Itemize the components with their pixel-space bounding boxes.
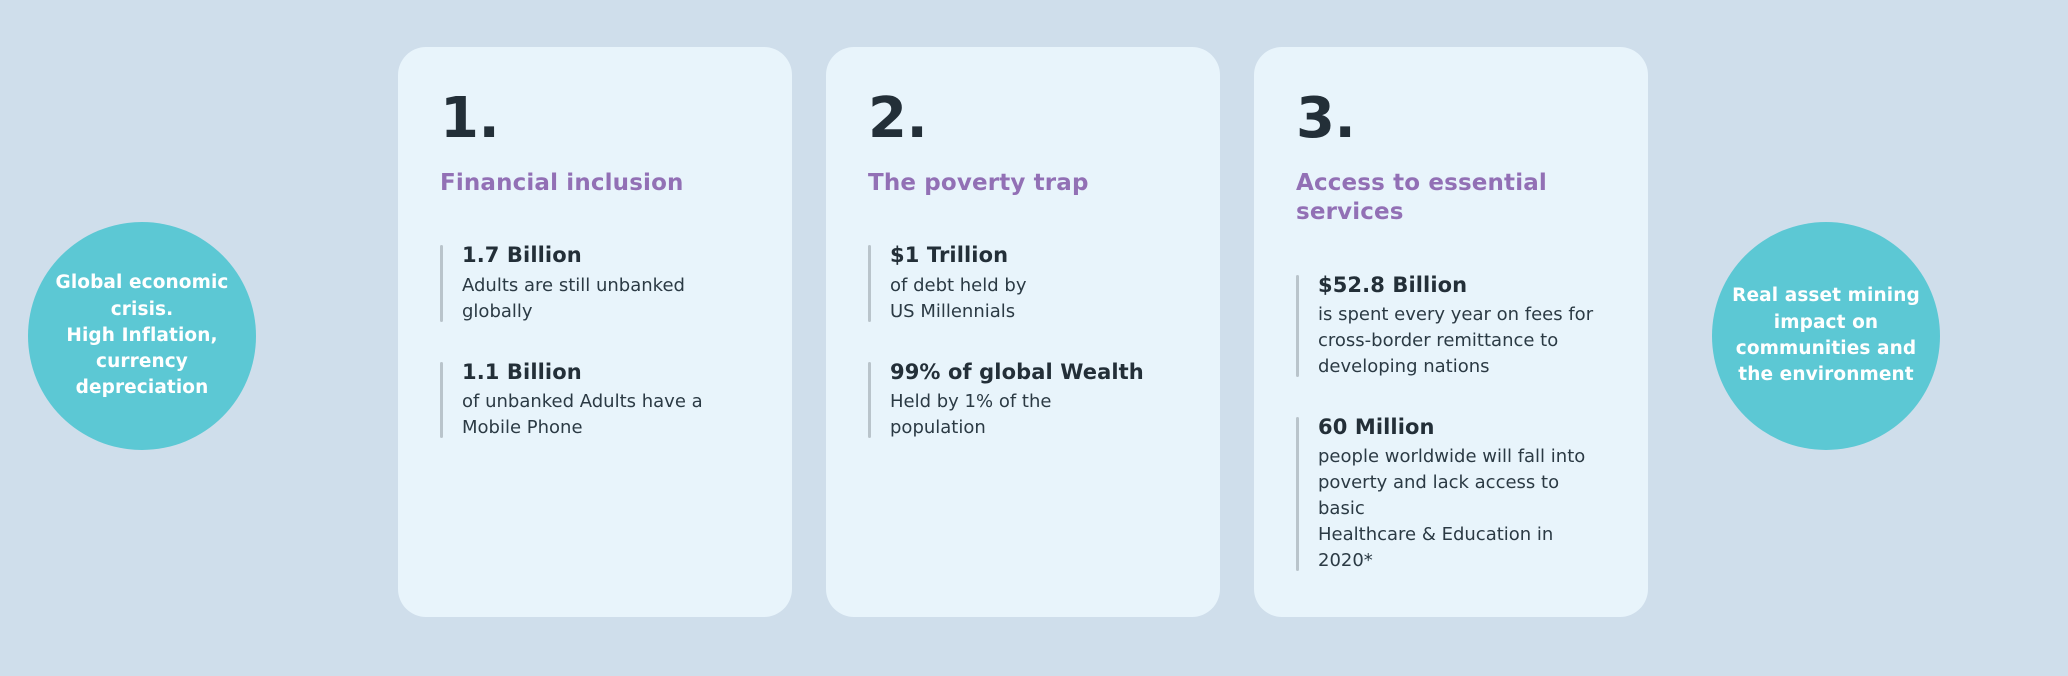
stat-description: Held by 1% of the population <box>890 389 1180 441</box>
stat-description: people worldwide will fall into poverty … <box>1318 444 1608 574</box>
stat-item: $1 Trillion of debt held by US Millennia… <box>868 242 1180 324</box>
card-group: 1. Financial inclusion 1.7 Billion Adult… <box>398 47 1648 617</box>
stat-item: $52.8 Billion is spent every year on fee… <box>1296 272 1608 380</box>
stat-value: 1.7 Billion <box>462 242 752 269</box>
stat-value: $1 Trillion <box>890 242 1180 269</box>
stat-item: 1.1 Billion of unbanked Adults have a Mo… <box>440 359 752 441</box>
circle-real-asset-mining-impact: Real asset mining impact on communities … <box>1712 222 1940 450</box>
circle-left-text: Global economic crisis. High Inflation, … <box>42 270 242 401</box>
stat-value: 60 Million <box>1318 414 1608 441</box>
circle-right-text: Real asset mining impact on communities … <box>1726 283 1926 388</box>
stat-item: 1.7 Billion Adults are still unbanked gl… <box>440 242 752 324</box>
card-1-number: 1. <box>440 91 752 147</box>
card-3-number: 3. <box>1296 91 1608 147</box>
stat-description: of unbanked Adults have a Mobile Phone <box>462 389 752 441</box>
card-2-number: 2. <box>868 91 1180 147</box>
stat-description: is spent every year on fees for cross-bo… <box>1318 302 1608 380</box>
stat-item: 60 Million people worldwide will fall in… <box>1296 414 1608 574</box>
card-1-stat-list: 1.7 Billion Adults are still unbanked gl… <box>440 242 752 440</box>
infographic-canvas: Global economic crisis. High Inflation, … <box>0 0 2068 676</box>
card-2-heading: The poverty trap <box>868 169 1180 198</box>
card-poverty-trap: 2. The poverty trap $1 Trillion of debt … <box>826 47 1220 617</box>
stat-value: $52.8 Billion <box>1318 272 1608 299</box>
stat-description: of debt held by US Millennials <box>890 273 1180 325</box>
stat-item: 99% of global Wealth Held by 1% of the p… <box>868 359 1180 441</box>
stat-description: Adults are still unbanked globally <box>462 273 752 325</box>
circle-global-economic-crisis: Global economic crisis. High Inflation, … <box>28 222 256 450</box>
stat-value: 99% of global Wealth <box>890 359 1180 386</box>
card-3-stat-list: $52.8 Billion is spent every year on fee… <box>1296 272 1608 574</box>
card-3-heading: Access to essential services <box>1296 169 1608 228</box>
stat-value: 1.1 Billion <box>462 359 752 386</box>
card-2-stat-list: $1 Trillion of debt held by US Millennia… <box>868 242 1180 440</box>
card-1-heading: Financial inclusion <box>440 169 752 198</box>
card-access-to-essential-services: 3. Access to essential services $52.8 Bi… <box>1254 47 1648 617</box>
card-financial-inclusion: 1. Financial inclusion 1.7 Billion Adult… <box>398 47 792 617</box>
